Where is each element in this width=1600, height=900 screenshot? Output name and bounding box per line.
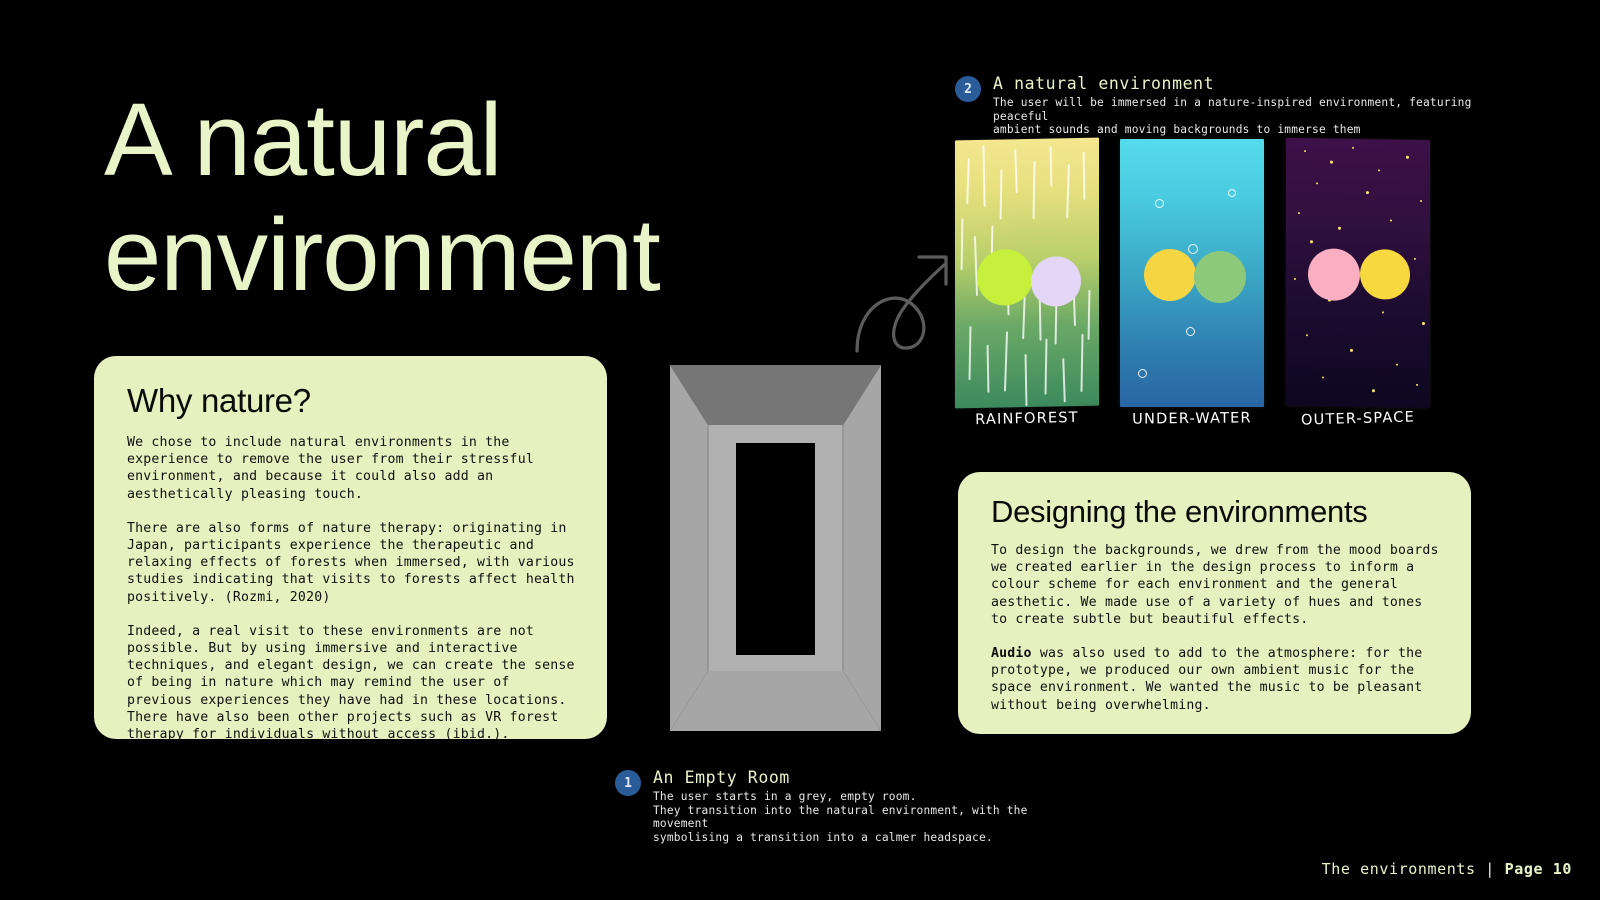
environment-label-outerspace: OUTER-SPACE <box>1286 409 1430 429</box>
curly-arrow-head <box>919 257 946 284</box>
footer-separator: | <box>1485 860 1495 878</box>
card-designing-environments: Designing the environments To design the… <box>958 472 1471 734</box>
card-why-nature-paragraph-2: There are also forms of nature therapy: … <box>127 520 578 606</box>
environment-panels: RAINFOREST UNDER-WATER <box>955 139 1467 429</box>
annotation-1-description: The user starts in a grey, empty room. T… <box>653 790 1085 844</box>
card-why-nature: Why nature? We chose to include natural … <box>94 356 607 739</box>
annotation-1-title: An Empty Room <box>653 768 1085 788</box>
footer: The environments | Page 10 <box>1322 860 1572 878</box>
curly-arrow-icon <box>845 243 960 358</box>
underwater-blob-1 <box>1144 249 1196 301</box>
footer-section: The environments <box>1322 860 1476 878</box>
annotation-2: 2 A natural environment The user will be… <box>955 74 1475 137</box>
card-why-nature-paragraph-3: Indeed, a real visit to these environmen… <box>127 623 578 743</box>
curly-arrow-svg <box>845 243 960 358</box>
curly-arrow-path <box>857 265 944 351</box>
annotation-1: 1 An Empty Room The user starts in a gre… <box>615 768 1085 844</box>
annotation-2-title: A natural environment <box>993 74 1475 94</box>
rainforest-artwork <box>955 138 1099 409</box>
card-designing-paragraph-1: To design the backgrounds, we drew from … <box>991 542 1445 628</box>
annotation-2-badge: 2 <box>955 76 981 102</box>
room-wall-right <box>843 365 881 731</box>
environment-card-rainforest[interactable]: RAINFOREST <box>955 139 1099 407</box>
card-why-nature-paragraph-1: We chose to include natural environments… <box>127 434 578 503</box>
underwater-artwork <box>1120 139 1264 407</box>
page-title: A natural environment <box>104 82 864 313</box>
card-why-nature-heading: Why nature? <box>127 382 578 420</box>
underwater-blob-2 <box>1194 251 1246 303</box>
annotation-2-body: A natural environment The user will be i… <box>993 74 1475 137</box>
empty-room-illustration <box>668 363 883 733</box>
annotation-1-badge: 1 <box>615 770 641 796</box>
outerspace-artwork <box>1286 138 1430 408</box>
footer-page-number: Page 10 <box>1505 860 1572 878</box>
environment-card-outerspace[interactable]: OUTER-SPACE <box>1286 139 1430 407</box>
room-wall-left <box>670 365 708 731</box>
environment-card-underwater[interactable]: UNDER-WATER <box>1120 139 1264 407</box>
room-doorway-opening <box>736 443 815 655</box>
slide-canvas: A natural environment Why nature? We cho… <box>0 0 1600 900</box>
annotation-2-description: The user will be immersed in a nature-in… <box>993 96 1475 137</box>
outerspace-blob-1 <box>1308 248 1360 301</box>
environment-label-underwater: UNDER-WATER <box>1120 410 1264 428</box>
card-designing-paragraph-2: Audio was also used to add to the atmosp… <box>991 645 1445 714</box>
empty-room-svg <box>668 363 883 733</box>
environment-label-rainforest: RAINFOREST <box>955 409 1099 428</box>
card-designing-heading: Designing the environments <box>991 494 1445 530</box>
outerspace-blob-2 <box>1360 249 1410 300</box>
annotation-1-body: An Empty Room The user starts in a grey,… <box>653 768 1085 844</box>
